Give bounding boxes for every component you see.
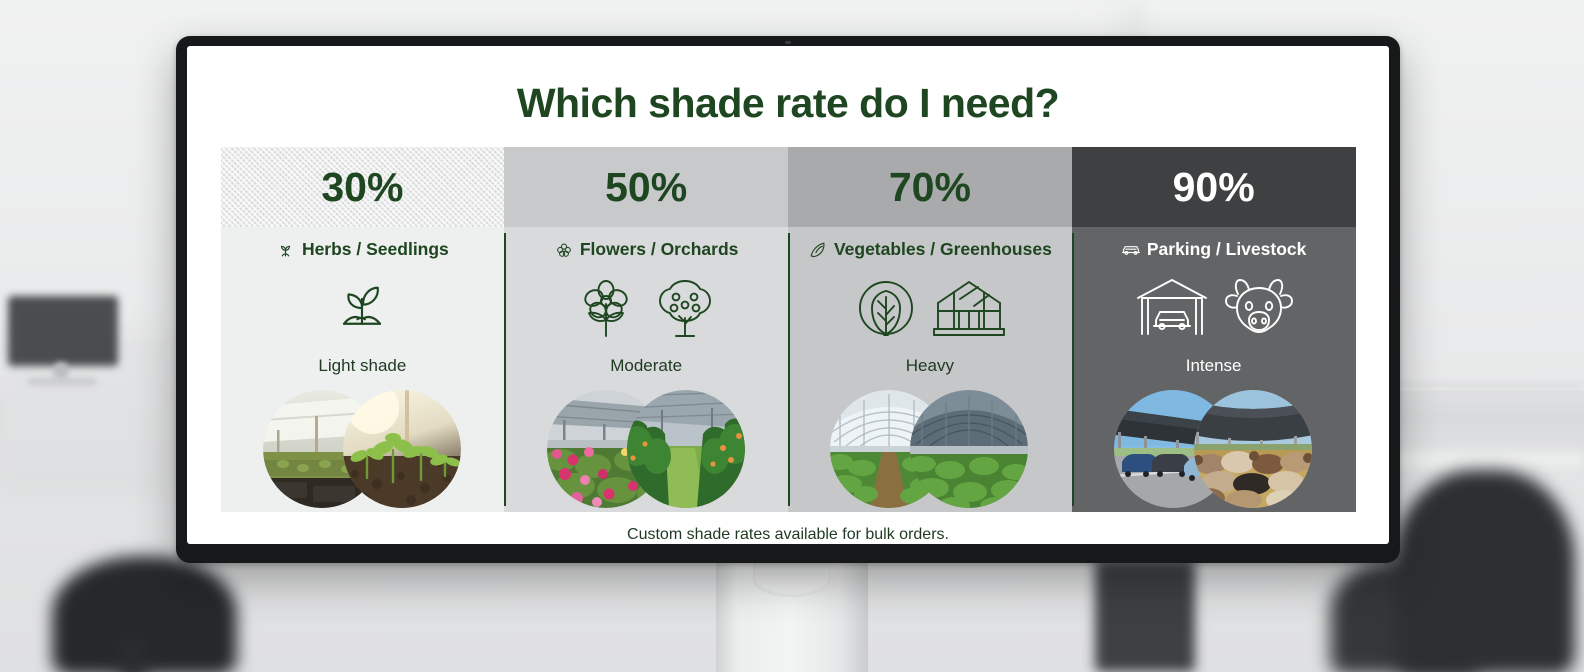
shade-rate-grid: 30%	[221, 147, 1356, 512]
category-label-50: Flowers / Orchards	[580, 239, 739, 260]
shade-header-50: 50%	[504, 147, 788, 227]
shade-percent-30: 30%	[321, 164, 403, 211]
seedling-sprout-icon	[326, 272, 398, 344]
fruit-tree-icon	[652, 274, 718, 342]
shade-column-30[interactable]: 30%	[221, 147, 505, 512]
category-row-50: Flowers / Orchards	[554, 239, 739, 260]
photo-pair-30	[255, 390, 470, 508]
shade-body-30: Herbs / Seedlings	[221, 227, 505, 512]
background-right-chair	[1395, 470, 1575, 672]
seedling-icon	[276, 240, 296, 260]
shade-description-70: Heavy	[906, 356, 954, 376]
cattle-shade-photo	[1194, 390, 1312, 508]
shade-percent-90: 90%	[1173, 164, 1255, 211]
slide: Which shade rate do I need? 30%	[187, 46, 1389, 544]
category-label-30: Herbs / Seedlings	[302, 239, 449, 260]
photo-pair-50	[539, 390, 754, 508]
tomato-seedlings-photo	[343, 390, 461, 508]
leafy-green-icon	[808, 240, 828, 260]
page-title: Which shade rate do I need?	[517, 80, 1059, 127]
shade-column-70[interactable]: 70% Vegetables / Greenhouses	[788, 147, 1072, 512]
category-label-90: Parking / Livestock	[1147, 239, 1307, 260]
footer-note: Custom shade rates available for bulk or…	[627, 526, 949, 544]
background-right-cabinet	[1095, 560, 1195, 672]
shade-header-70: 70%	[788, 147, 1072, 227]
background-left-chair-post	[120, 640, 146, 672]
shade-description-30: Light shade	[318, 356, 406, 376]
photo-pair-70	[822, 390, 1037, 508]
shade-body-70: Vegetables / Greenhouses	[788, 227, 1072, 512]
shade-body-50: Flowers / Orchards	[504, 227, 788, 512]
shade-header-30: 30%	[221, 147, 505, 227]
photo-pair-90	[1106, 390, 1321, 508]
cow-head-icon	[1224, 276, 1294, 340]
background-left-monitor-base	[28, 378, 96, 385]
main-icons-50	[574, 268, 718, 348]
shade-percent-70: 70%	[889, 164, 971, 211]
cabbage-icon	[854, 275, 918, 341]
main-icons-70	[854, 268, 1006, 348]
main-icons-30	[326, 268, 398, 348]
orchard-rows-photo	[627, 390, 745, 508]
shade-header-90: 90%	[1072, 147, 1356, 227]
shade-column-90[interactable]: 90%	[1072, 147, 1356, 512]
main-icons-90	[1134, 268, 1294, 348]
shaded-greenhouse-photo	[910, 390, 1028, 508]
category-label-70: Vegetables / Greenhouses	[834, 239, 1052, 260]
shade-description-50: Moderate	[610, 356, 682, 376]
category-row-70: Vegetables / Greenhouses	[808, 239, 1052, 260]
background-left-monitor	[8, 296, 118, 366]
shade-description-90: Intense	[1186, 356, 1242, 376]
monitor-stand	[716, 563, 868, 672]
shade-column-50[interactable]: 50% Flow	[504, 147, 788, 512]
office-scene: Which shade rate do I need? 30%	[0, 0, 1584, 672]
monitor-screen: Which shade rate do I need? 30%	[187, 46, 1389, 544]
greenhouse-icon	[932, 277, 1006, 339]
carport-icon	[1134, 276, 1210, 340]
blossom-icon	[554, 240, 574, 260]
shade-body-90: Parking / Livestock	[1072, 227, 1356, 512]
flower-icon	[574, 274, 638, 342]
car-icon	[1121, 240, 1141, 260]
monitor-bezel: Which shade rate do I need? 30%	[176, 36, 1400, 563]
category-row-90: Parking / Livestock	[1121, 239, 1307, 260]
category-row-30: Herbs / Seedlings	[276, 239, 449, 260]
shade-percent-50: 50%	[605, 164, 687, 211]
